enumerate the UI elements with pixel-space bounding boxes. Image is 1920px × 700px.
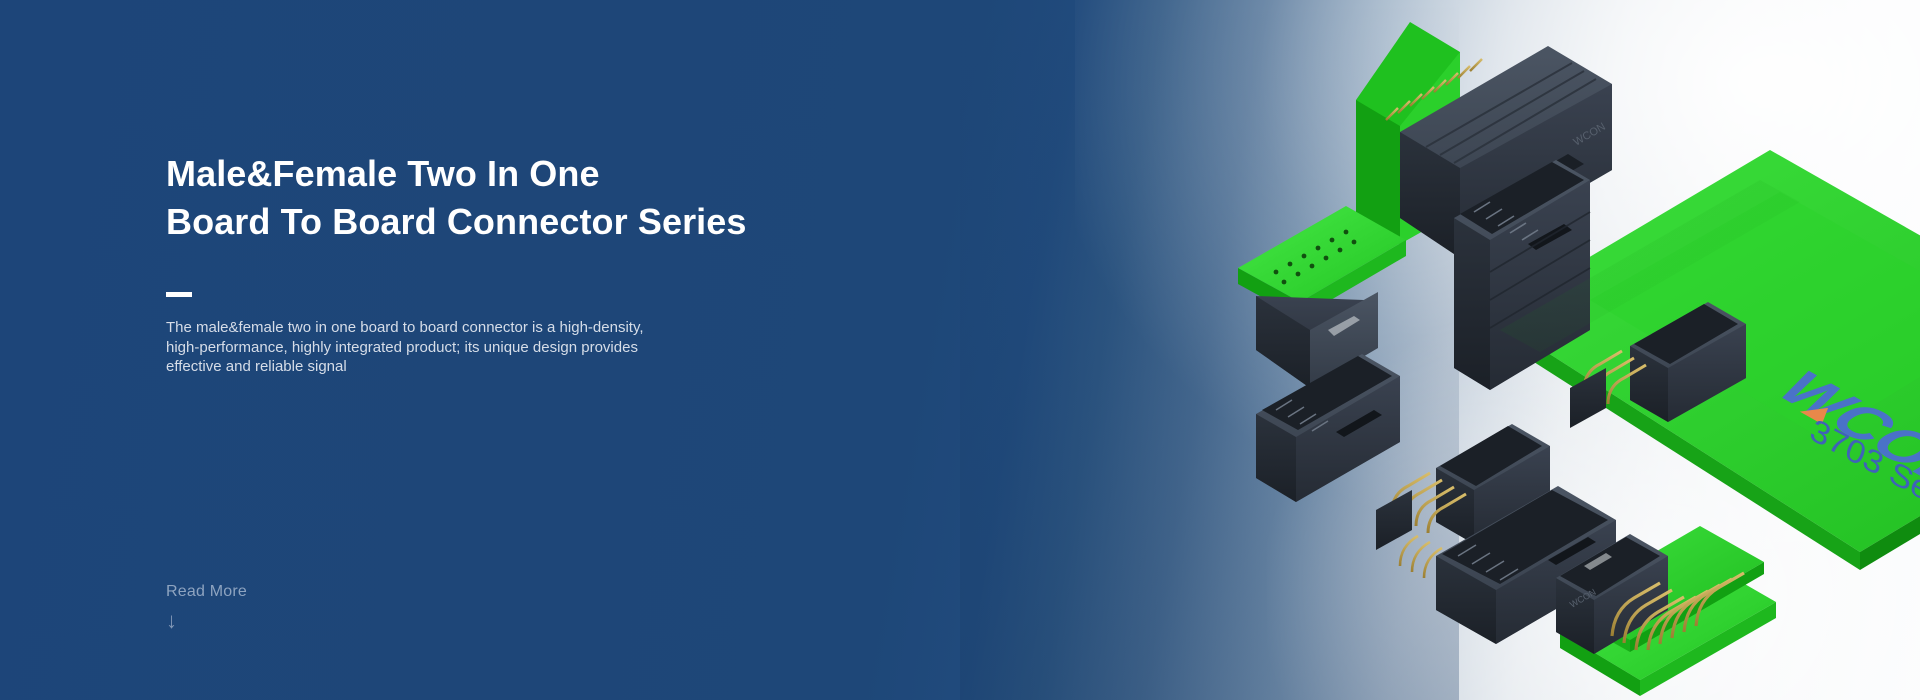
read-more-label: Read More xyxy=(166,582,247,602)
product-render: WCON 3703 Series xyxy=(1160,0,1920,700)
headline-line-1: Male&Female Two In One xyxy=(166,150,786,198)
hero-description: The male&female two in one board to boar… xyxy=(166,318,714,377)
title-divider xyxy=(166,292,192,297)
hero-copy-block: Male&Female Two In One Board To Board Co… xyxy=(166,150,786,377)
headline-line-2: Board To Board Connector Series xyxy=(166,198,786,246)
read-more-link[interactable]: Read More ↓ xyxy=(166,582,247,632)
connector-assembly-midleft xyxy=(1238,206,1406,388)
description-line-3: effective and reliable signal xyxy=(166,357,714,377)
description-line-2: high-performance, highly integrated prod… xyxy=(166,338,714,358)
description-line-1: The male&female two in one board to boar… xyxy=(166,318,714,338)
arrow-down-icon: ↓ xyxy=(166,610,247,632)
page-title: Male&Female Two In One Board To Board Co… xyxy=(166,150,786,246)
hero-banner: WCON 3703 Series xyxy=(0,0,1920,700)
connector-header-left xyxy=(1256,354,1400,502)
